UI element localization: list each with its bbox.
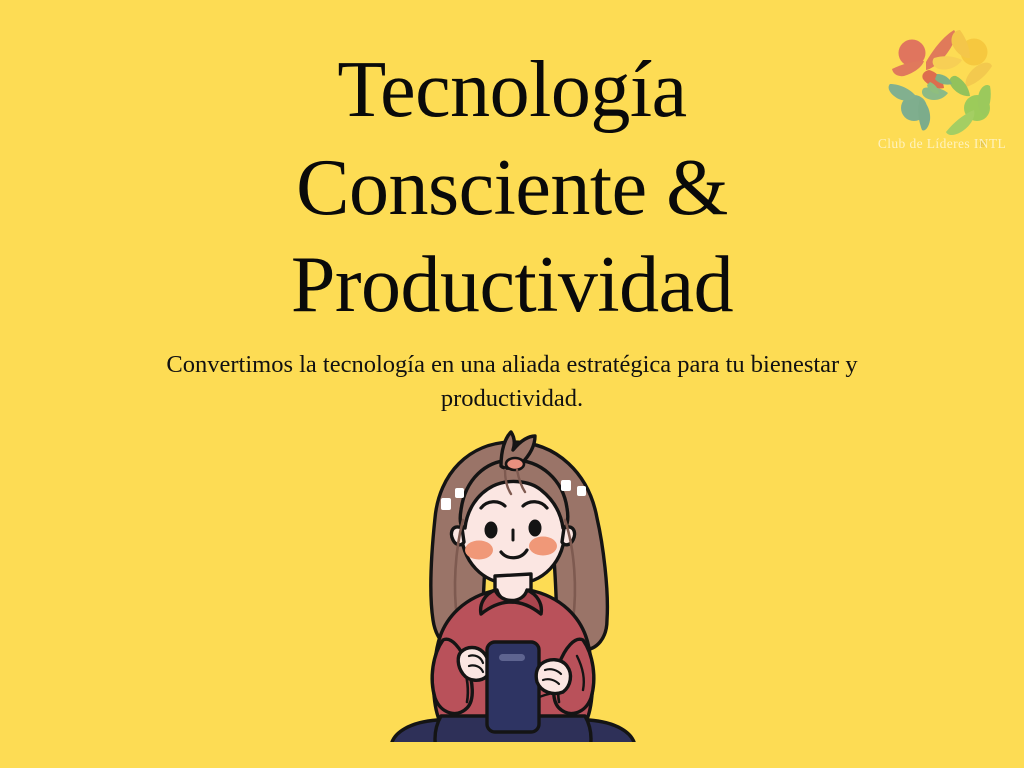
girl-illustration-icon — [345, 424, 681, 742]
hair-highlight-left-1 — [441, 498, 451, 510]
page-subtitle: Convertimos la tecnología en una aliada … — [112, 348, 912, 416]
hair-tie — [506, 458, 524, 470]
eye-right — [529, 520, 542, 537]
cheek-left — [465, 541, 493, 560]
cheek-right — [529, 537, 557, 556]
hair-highlight-right-2 — [577, 486, 586, 496]
page-title-line-1: Tecnología — [0, 42, 1024, 140]
hair-highlight-right-1 — [561, 480, 571, 491]
eye-left — [485, 522, 498, 539]
hand-left — [458, 648, 489, 681]
page-title: Tecnología Consciente & Productividad — [0, 42, 1024, 335]
illustration-girl-with-phone — [345, 424, 681, 742]
hand-right — [536, 660, 570, 694]
slide-canvas: ® Club de Líderes INTL Tecnología Consci… — [0, 0, 1024, 768]
phone-speaker — [499, 654, 525, 661]
page-title-line-2: Consciente & — [0, 140, 1024, 238]
page-title-line-3: Productividad — [0, 237, 1024, 335]
hair-highlight-left-2 — [455, 488, 464, 498]
